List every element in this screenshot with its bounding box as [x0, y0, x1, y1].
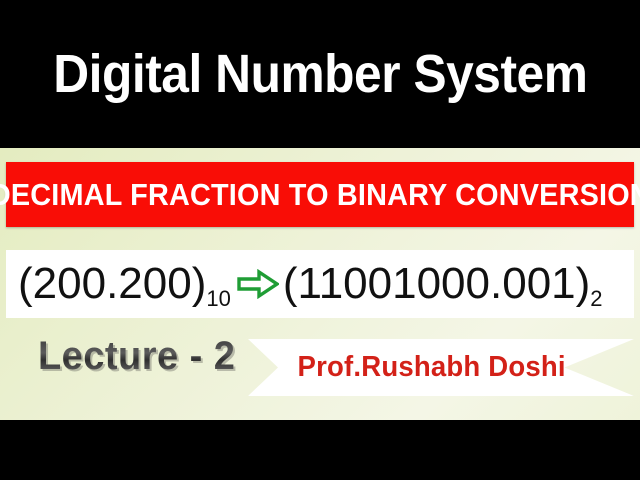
title-bar: Digital Number System	[0, 0, 640, 148]
right-block-arrow-icon	[237, 269, 279, 299]
slide-canvas: Digital Number System DECIMAL FRACTION T…	[0, 0, 640, 480]
page-title: Digital Number System	[53, 47, 587, 101]
lecture-label: Lecture - 2	[38, 336, 235, 376]
bottom-bar	[0, 420, 640, 480]
equation-box: (200.200) 10 (11001000.001) 2	[6, 250, 634, 318]
subtitle-banner: DECIMAL FRACTION TO BINARY CONVERSION	[6, 162, 634, 227]
equation-right-value: (11001000.001)	[283, 262, 590, 306]
equation-right-subscript: 2	[590, 288, 602, 318]
presenter-name: Prof.Rushabh Doshi	[297, 351, 565, 384]
equation-left-subscript: 10	[206, 288, 230, 318]
equation-left-value: (200.200)	[18, 262, 206, 306]
subtitle-banner-label: DECIMAL FRACTION TO BINARY CONVERSION	[0, 177, 640, 213]
